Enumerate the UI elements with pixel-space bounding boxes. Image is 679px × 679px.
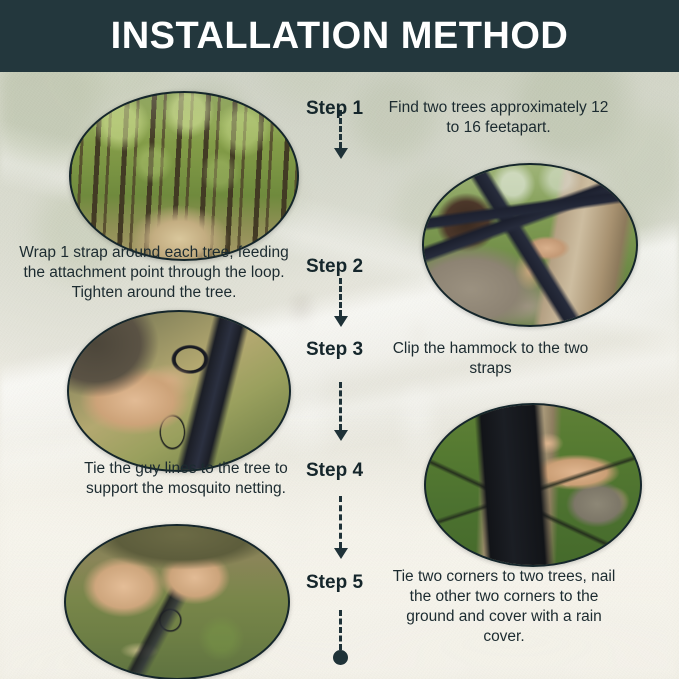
step-text-5: Tie two corners to two trees, nail the o… <box>384 567 624 648</box>
carabiner-clip-photo <box>67 310 291 472</box>
timeline-arrow-4 <box>334 548 348 559</box>
step-label-5: Step 5 <box>306 573 363 592</box>
ground-stake-photo-inner <box>66 526 288 678</box>
step-label-2: Step 2 <box>306 257 363 276</box>
guy-line-tie-photo <box>424 403 642 567</box>
step-text-3: Clip the hammock to the two straps <box>387 339 594 379</box>
step-label-3: Step 3 <box>306 340 363 359</box>
header-bar: INSTALLATION METHOD <box>0 0 679 72</box>
timeline-segment-5 <box>339 610 342 650</box>
step-label-1: Step 1 <box>306 99 363 118</box>
step-label-4: Step 4 <box>306 461 363 480</box>
page-title: INSTALLATION METHOD <box>111 17 569 55</box>
guy-line-tie-photo-inner <box>426 405 640 565</box>
installation-method-infographic: INSTALLATION METHOD Step 1 Find two tree… <box>0 0 679 679</box>
timeline-segment-2 <box>339 278 342 316</box>
step-text-4: Tie the guy lines to the tree to support… <box>77 459 295 499</box>
forest-path-photo <box>69 91 299 261</box>
carabiner-clip-photo-inner <box>69 312 289 470</box>
forest-path-photo-inner <box>71 93 297 259</box>
step-text-2: Wrap 1 strap around each tree, feeding t… <box>14 243 294 303</box>
ground-stake-photo <box>64 524 290 679</box>
timeline-segment-4 <box>339 496 342 548</box>
timeline-arrow-1 <box>334 148 348 159</box>
timeline-arrow-3 <box>334 430 348 441</box>
timeline-segment-3 <box>339 382 342 430</box>
timeline-end-dot <box>333 650 348 665</box>
timeline-arrow-2 <box>334 316 348 327</box>
strap-around-tree-photo-inner <box>424 165 636 325</box>
step-text-1: Find two trees approximately 12 to 16 fe… <box>386 98 611 138</box>
strap-around-tree-photo <box>422 163 638 327</box>
